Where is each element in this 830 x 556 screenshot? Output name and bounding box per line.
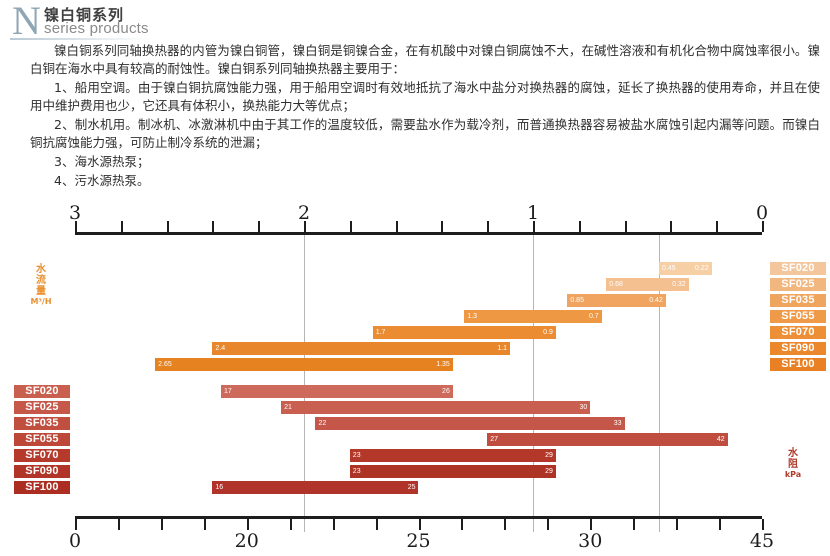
resistance-bar-SF100: 1625 (212, 481, 418, 494)
resistance-tick-6 (333, 519, 335, 530)
paragraph-intro: 镍白铜系列同轴换热器的内管为镍白铜管，镍白铜是铜镍合金，在有机酸中对镍白铜腐蚀不… (30, 42, 820, 78)
gridline-flow-1 (533, 232, 534, 532)
resistance-tick-14 (676, 519, 678, 530)
resistance-tick-9 (461, 519, 463, 530)
flow-bar-value-max-SF100: 2.65 (158, 359, 172, 370)
flow-axis-label-1: 1 (527, 202, 539, 224)
flow-tick-9 (487, 221, 489, 232)
resistance-tick-8 (419, 519, 421, 530)
resistance-tick-12 (590, 519, 592, 530)
flow-legend-chip-SF090[interactable]: SF090 (770, 342, 826, 355)
flow-tick-11 (579, 221, 581, 232)
header-divider (10, 38, 150, 40)
resistance-bar-SF035: 2233 (315, 417, 624, 430)
resistance-bar-value-min-SF020: 17 (224, 386, 232, 397)
gridline-flow-2 (659, 232, 660, 532)
flow-bar-value-min-SF035: 0.42 (649, 295, 663, 306)
flow-legend-chip-SF035[interactable]: SF035 (770, 294, 826, 307)
resistance-bar-SF025: 2130 (281, 401, 590, 414)
flow-bar-SF055: 1.30.7 (464, 310, 601, 323)
resistance-tick-1 (118, 519, 120, 530)
flow-legend-chip-SF100[interactable]: SF100 (770, 358, 826, 371)
resistance-bar-SF055: 2742 (487, 433, 727, 446)
flow-tick-4 (258, 221, 260, 232)
flow-bar-value-max-SF090: 2.4 (215, 343, 225, 354)
resistance-legend-chip-SF055[interactable]: SF055 (14, 433, 70, 446)
flow-bar-value-min-SF055: 0.7 (589, 311, 599, 322)
flow-legend-chip-SF025[interactable]: SF025 (770, 278, 826, 291)
flow-bar-SF070: 1.70.9 (373, 326, 556, 339)
resistance-tick-4 (247, 519, 249, 530)
resistance-bar-value-max-SF055: 42 (717, 434, 725, 445)
resistance-legend-chip-SF025[interactable]: SF025 (14, 401, 70, 414)
product-description: 镍白铜系列同轴换热器的内管为镍白铜管，镍白铜是铜镍合金，在有机酸中对镍白铜腐蚀不… (30, 42, 820, 191)
resistance-bar-value-min-SF055: 27 (490, 434, 498, 445)
resistance-tick-16 (762, 519, 764, 530)
paragraph-item-1: 1、船用空调。由于镍白铜抗腐蚀能力强，用于船用空调时有效地抵抗了海水中盐分对换热… (30, 79, 820, 115)
resistance-bar-value-max-SF100: 25 (408, 482, 416, 493)
flow-tick-6 (350, 221, 352, 232)
flow-legend-chip-SF020[interactable]: SF020 (770, 262, 826, 275)
resistance-bar-value-max-SF020: 26 (442, 386, 450, 397)
resistance-tick-10 (504, 519, 506, 530)
flow-bar-value-min-SF025: 0.32 (672, 279, 686, 290)
resistance-bar-SF020: 1726 (221, 385, 453, 398)
flow-caption-unit: M³/H (26, 297, 56, 307)
resistance-bar-value-min-SF035: 22 (318, 418, 326, 429)
flow-axis-line (75, 232, 762, 235)
page-header: N 镍白铜系列 series products (0, 0, 830, 40)
resistance-tick-5 (290, 519, 292, 530)
flow-bar-value-min-SF020: 0.22 (695, 263, 709, 274)
resistance-bar-value-min-SF025: 21 (284, 402, 292, 413)
resistance-bar-value-max-SF090: 29 (545, 466, 553, 477)
flow-bar-SF020: 0.450.22 (659, 262, 712, 275)
paragraph-item-2: 2、制水机用。制冰机、冰激淋机中由于其工作的温度较低，需要盐水作为载冷剂，而普通… (30, 116, 820, 152)
flow-tick-8 (441, 221, 443, 232)
resistance-legend-chip-SF100[interactable]: SF100 (14, 481, 70, 494)
flow-caption-cn-3: 量 (26, 286, 56, 297)
flow-axis-label-0: 0 (756, 202, 768, 224)
resistance-tick-11 (547, 519, 549, 530)
paragraph-item-3: 3、海水源热泵； (30, 153, 820, 171)
resistance-axis-label-20: 20 (235, 530, 259, 552)
resistance-tick-7 (376, 519, 378, 530)
resistance-axis-label-45: 45 (750, 530, 774, 552)
resistance-axis-label-25: 25 (406, 530, 430, 552)
resistance-legend-chip-SF090[interactable]: SF090 (14, 465, 70, 478)
resistance-tick-2 (161, 519, 163, 530)
logo-n-icon: N (12, 2, 41, 40)
resistance-bar-SF090: 2329 (350, 465, 556, 478)
flow-bar-value-max-SF020: 0.45 (662, 263, 676, 274)
flow-tick-2 (167, 221, 169, 232)
resistance-tick-0 (75, 519, 77, 530)
res-caption-cn-1: 水 (778, 448, 808, 459)
logo-title-en: series products (44, 20, 149, 37)
flow-axis-label-2: 2 (298, 202, 310, 224)
flow-bar-value-max-SF070: 1.7 (376, 327, 386, 338)
resistance-axis-label-30: 30 (578, 530, 602, 552)
flow-bar-value-max-SF055: 1.3 (467, 311, 477, 322)
res-caption-unit: kPa (778, 470, 808, 480)
res-caption-cn-2: 阻 (778, 459, 808, 470)
flow-legend-chip-SF055[interactable]: SF055 (770, 310, 826, 323)
flow-tick-13 (670, 221, 672, 232)
resistance-bar-value-min-SF100: 16 (215, 482, 223, 493)
paragraph-item-4: 4、污水源热泵。 (30, 172, 820, 190)
flow-legend-chip-SF070[interactable]: SF070 (770, 326, 826, 339)
resistance-axis-label-0: 0 (69, 530, 81, 552)
resistance-legend-chip-SF020[interactable]: SF020 (14, 385, 70, 398)
resistance-tick-3 (204, 519, 206, 530)
resistance-bar-SF070: 2329 (350, 449, 556, 462)
resistance-bar-value-min-SF090: 23 (353, 466, 361, 477)
resistance-bar-value-max-SF070: 29 (545, 450, 553, 461)
dual-bar-chart: 3210 020253045 0.450.220.680.320.850.421… (0, 212, 830, 556)
flow-bar-SF100: 2.651.35 (155, 358, 453, 371)
flow-tick-7 (396, 221, 398, 232)
flow-bar-value-min-SF100: 1.35 (436, 359, 450, 370)
resistance-bar-value-max-SF035: 33 (614, 418, 622, 429)
flow-tick-12 (625, 221, 627, 232)
flow-bar-SF090: 2.41.1 (212, 342, 510, 355)
flow-tick-1 (121, 221, 123, 232)
flow-bar-SF025: 0.680.32 (606, 278, 688, 291)
resistance-tick-13 (633, 519, 635, 530)
flow-bar-value-min-SF090: 1.1 (497, 343, 507, 354)
flow-bar-value-max-SF035: 0.85 (570, 295, 584, 306)
resistance-legend-chip-SF070[interactable]: SF070 (14, 449, 70, 462)
resistance-bar-value-max-SF025: 30 (579, 402, 587, 413)
resistance-axis-caption: 水 阻 kPa (778, 448, 808, 480)
flow-caption-cn-2: 流 (26, 275, 56, 286)
flow-tick-3 (212, 221, 214, 232)
resistance-legend-chip-SF035[interactable]: SF035 (14, 417, 70, 430)
flow-caption-cn-1: 水 (26, 264, 56, 275)
flow-bar-value-min-SF070: 0.9 (543, 327, 553, 338)
flow-axis-label-3: 3 (69, 202, 81, 224)
flow-bar-SF035: 0.850.42 (567, 294, 665, 307)
flow-axis-caption: 水 流 量 M³/H (26, 264, 56, 307)
resistance-tick-15 (719, 519, 721, 530)
flow-bar-value-max-SF025: 0.68 (609, 279, 623, 290)
flow-tick-14 (716, 221, 718, 232)
resistance-bar-value-min-SF070: 23 (353, 450, 361, 461)
